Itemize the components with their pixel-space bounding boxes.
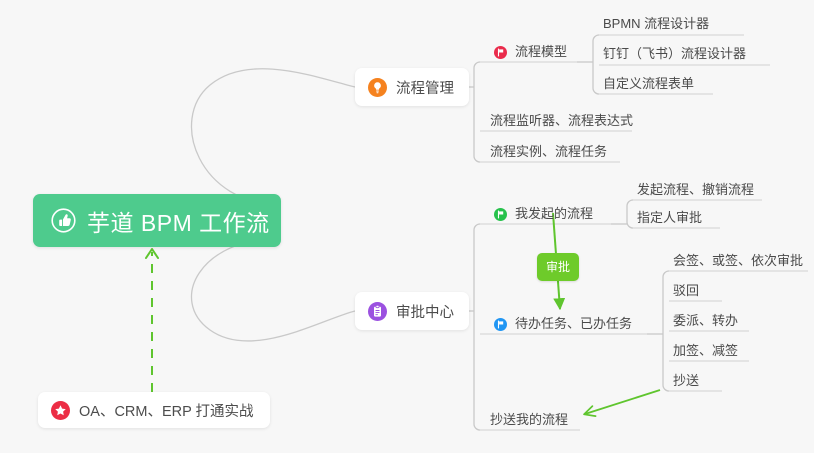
leaf-label-countersign-or-sequential: 会签、或签、依次审批: [673, 251, 803, 271]
leaf-label-cc-to-me-process: 抄送我的流程: [490, 410, 568, 430]
flag-icon: [494, 318, 507, 331]
node-integration[interactable]: OA、CRM、ERP 打通实战: [38, 392, 270, 428]
leaf-label-bpmn-designer: BPMN 流程设计器: [603, 14, 709, 34]
leaf-label-assignee-approval: 指定人审批: [637, 208, 702, 228]
wire-todo-done-trunk: [663, 271, 669, 391]
mindmap-canvas: 芋道 BPM 工作流 流程管理 审批中心: [0, 0, 814, 453]
leaf-label-start-cancel-process: 发起流程、撤销流程: [637, 180, 754, 200]
leaf-my-initiated-process[interactable]: 我发起的流程: [494, 204, 593, 224]
wire-process-mgmt-trunk: [474, 62, 480, 162]
wire-process-model-trunk: [593, 35, 599, 94]
leaf-start-cancel-process[interactable]: 发起流程、撤销流程: [637, 180, 754, 200]
leaf-cc[interactable]: 抄送: [673, 371, 699, 391]
badge-approve-label: 审批: [546, 260, 570, 274]
leaf-todo-done-tasks[interactable]: 待办任务、已办任务: [494, 314, 632, 334]
node-integration-label: OA、CRM、ERP 打通实战: [79, 400, 254, 421]
leaf-cc-to-me-process[interactable]: 抄送我的流程: [490, 410, 568, 430]
leaf-reject[interactable]: 驳回: [673, 281, 699, 301]
cc-to-cc-process-arrow: [585, 390, 660, 414]
thumbs-up-icon: [51, 208, 76, 233]
leaf-label-my-initiated-process: 我发起的流程: [515, 204, 593, 224]
leaf-bpmn-designer[interactable]: BPMN 流程设计器: [603, 14, 709, 34]
wire-root-to-approval-center: [192, 238, 355, 341]
leaf-assignee-approval[interactable]: 指定人审批: [637, 208, 702, 228]
wire-my-initiated-trunk: [627, 200, 633, 228]
leaf-label-process-instance-task: 流程实例、流程任务: [490, 142, 607, 162]
leaf-label-custom-process-form: 自定义流程表单: [603, 74, 694, 94]
leaf-label-cc: 抄送: [673, 371, 699, 391]
wire-approval-center-trunk: [474, 224, 480, 430]
leaf-add-remove-sign[interactable]: 加签、减签: [673, 341, 738, 361]
branch-node-process-mgmt[interactable]: 流程管理: [355, 68, 469, 106]
root-node[interactable]: 芋道 BPM 工作流: [33, 194, 281, 247]
branch-label-approval-center: 审批中心: [396, 301, 454, 322]
leaf-custom-process-form[interactable]: 自定义流程表单: [603, 74, 694, 94]
branch-node-approval-center[interactable]: 审批中心: [355, 292, 469, 330]
leaf-process-model[interactable]: 流程模型: [494, 42, 567, 62]
leaf-label-add-remove-sign: 加签、减签: [673, 341, 738, 361]
flag-icon: [494, 46, 507, 59]
clipboard-icon: [368, 302, 387, 321]
lightbulb-icon: [368, 78, 387, 97]
leaf-label-process-listener-expression: 流程监听器、流程表达式: [490, 111, 633, 131]
leaf-process-listener-expression[interactable]: 流程监听器、流程表达式: [490, 111, 633, 131]
leaf-label-reject: 驳回: [673, 281, 699, 301]
root-label: 芋道 BPM 工作流: [87, 204, 270, 238]
leaf-dingtalk-feishu-designer[interactable]: 钉钉（飞书）流程设计器: [603, 44, 746, 64]
branch-label-process-mgmt: 流程管理: [396, 77, 454, 98]
leaf-label-delegate-transfer: 委派、转办: [673, 311, 738, 331]
star-icon: [51, 401, 70, 420]
flag-icon: [494, 208, 507, 221]
badge-approve[interactable]: 审批: [537, 253, 579, 281]
integration-arrow-head: [146, 249, 158, 258]
wire-root-to-process-mgmt: [192, 69, 355, 205]
leaf-process-instance-task[interactable]: 流程实例、流程任务: [490, 142, 607, 162]
leaf-label-dingtalk-feishu-designer: 钉钉（飞书）流程设计器: [603, 44, 746, 64]
leaf-countersign-or-sequential[interactable]: 会签、或签、依次审批: [673, 251, 803, 271]
leaf-label-todo-done-tasks: 待办任务、已办任务: [515, 314, 632, 334]
leaf-label-process-model: 流程模型: [515, 42, 567, 62]
leaf-delegate-transfer[interactable]: 委派、转办: [673, 311, 738, 331]
